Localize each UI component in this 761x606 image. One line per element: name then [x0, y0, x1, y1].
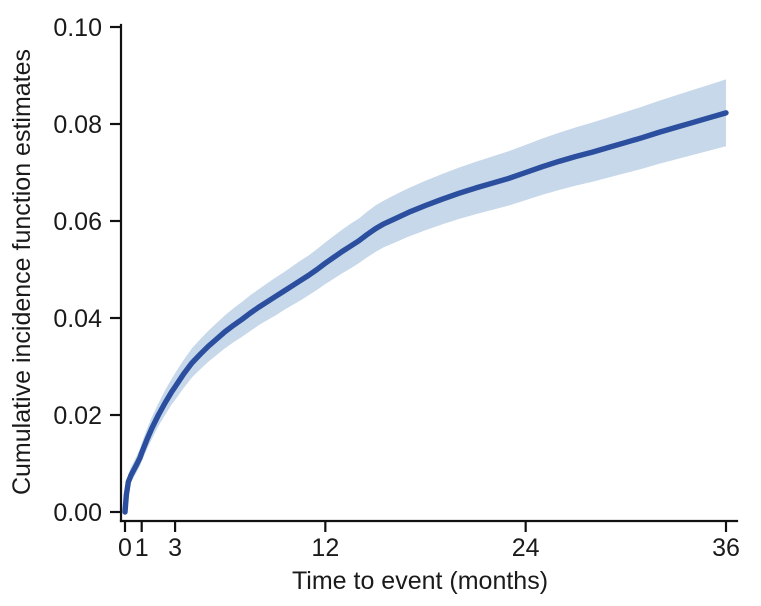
confidence-interval-band — [125, 79, 726, 512]
chart-plot-area: 0.000.020.040.060.080.10 013122436 Time … — [0, 0, 761, 606]
y-axis-title: Cumulative incidence function estimates — [8, 49, 36, 495]
y-tick-label: 0.10 — [53, 14, 102, 42]
cumulative-incidence-line — [125, 113, 726, 512]
y-tick-label: 0.06 — [53, 208, 102, 236]
x-axis-ticks: 013122436 — [118, 521, 740, 562]
x-tick-label: 3 — [168, 534, 182, 562]
estimate-line-group — [125, 113, 726, 512]
y-axis-ticks: 0.000.020.040.060.080.10 — [53, 14, 121, 527]
y-tick-label: 0.02 — [53, 402, 102, 430]
y-tick-label: 0.00 — [53, 499, 102, 527]
confidence-band-group — [125, 79, 726, 512]
x-tick-label: 0 — [118, 534, 132, 562]
x-tick-label: 12 — [311, 534, 339, 562]
y-tick-label: 0.04 — [53, 305, 102, 333]
x-tick-label: 1 — [135, 534, 149, 562]
y-axis: 0.000.020.040.060.080.10 — [53, 14, 121, 527]
x-tick-label: 24 — [512, 534, 540, 562]
y-tick-label: 0.08 — [53, 111, 102, 139]
x-axis-title: Time to event (months) — [292, 567, 548, 595]
x-axis: 013122436 — [118, 521, 740, 562]
x-tick-label: 36 — [712, 534, 740, 562]
cumulative-incidence-chart-figure: 0.000.020.040.060.080.10 013122436 Time … — [0, 0, 761, 606]
